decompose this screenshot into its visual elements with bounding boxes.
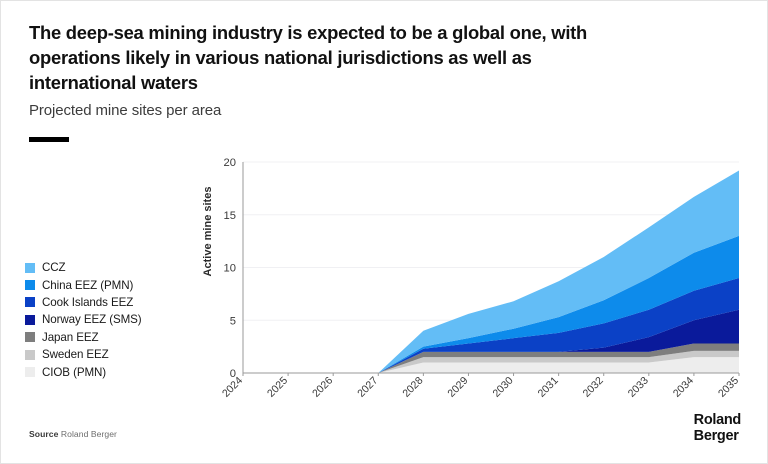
legend-item[interactable]: CCZ bbox=[25, 259, 210, 276]
chart-svg: 05101520Active mine sites202420252026202… bbox=[197, 151, 757, 401]
legend-item[interactable]: Cook Islands EEZ bbox=[25, 294, 210, 311]
legend-item-label: China EEZ (PMN) bbox=[42, 279, 133, 292]
legend-item-label: Norway EEZ (SMS) bbox=[42, 313, 142, 326]
logo-line-2: Berger bbox=[694, 429, 741, 445]
x-axis-tick-label: 2027 bbox=[355, 375, 380, 400]
x-axis-tick-label: 2035 bbox=[716, 375, 741, 400]
legend-item[interactable]: China EEZ (PMN) bbox=[25, 276, 210, 293]
legend-item-label: Japan EEZ bbox=[42, 331, 98, 344]
x-axis-tick-label: 2034 bbox=[671, 375, 696, 400]
legend-item-label: CCZ bbox=[42, 261, 66, 274]
legend-swatch-icon bbox=[25, 315, 35, 325]
y-axis-tick-label: 5 bbox=[230, 315, 236, 327]
legend-swatch-icon bbox=[25, 332, 35, 342]
x-axis-tick-label: 2032 bbox=[581, 375, 606, 400]
x-axis-tick-label: 2025 bbox=[265, 375, 290, 400]
source-note: Source Roland Berger bbox=[29, 429, 117, 439]
source-label: Source bbox=[29, 429, 58, 439]
roland-berger-logo: Roland Berger bbox=[694, 413, 741, 444]
source-value: Roland Berger bbox=[61, 429, 117, 439]
legend-item-label: Cook Islands EEZ bbox=[42, 296, 133, 309]
x-axis-tick-label: 2031 bbox=[536, 375, 561, 400]
x-axis-tick-label: 2024 bbox=[220, 375, 245, 400]
x-axis-tick-label: 2028 bbox=[400, 375, 425, 400]
chart-legend: CCZChina EEZ (PMN)Cook Islands EEZNorway… bbox=[25, 259, 210, 381]
logo-line-1: Roland bbox=[694, 413, 741, 429]
legend-swatch-icon bbox=[25, 367, 35, 377]
x-axis-tick-label: 2026 bbox=[310, 375, 335, 400]
page-subtitle: Projected mine sites per area bbox=[29, 102, 549, 119]
legend-swatch-icon bbox=[25, 297, 35, 307]
y-axis-tick-label: 20 bbox=[224, 157, 236, 169]
legend-item-label: Sweden EEZ bbox=[42, 348, 109, 361]
x-axis-tick-label: 2030 bbox=[491, 375, 516, 400]
legend-item[interactable]: Sweden EEZ bbox=[25, 346, 210, 363]
chart-page: The deep-sea mining industry is expected… bbox=[0, 0, 768, 464]
y-axis-tick-label: 10 bbox=[224, 263, 236, 275]
legend-swatch-icon bbox=[25, 280, 35, 290]
y-axis-tick-label: 15 bbox=[224, 210, 236, 222]
x-axis-tick-label: 2033 bbox=[626, 375, 651, 400]
legend-item-label: CIOB (PMN) bbox=[42, 366, 106, 379]
legend-swatch-icon bbox=[25, 263, 35, 273]
legend-swatch-icon bbox=[25, 350, 35, 360]
stacked-area-chart: 05101520Active mine sites202420252026202… bbox=[197, 151, 757, 401]
page-title: The deep-sea mining industry is expected… bbox=[29, 20, 629, 95]
legend-item[interactable]: Japan EEZ bbox=[25, 329, 210, 346]
y-axis-title: Active mine sites bbox=[202, 187, 214, 277]
accent-bar bbox=[29, 137, 69, 142]
legend-item[interactable]: CIOB (PMN) bbox=[25, 363, 210, 380]
x-axis-tick-label: 2029 bbox=[445, 375, 470, 400]
legend-item[interactable]: Norway EEZ (SMS) bbox=[25, 311, 210, 328]
